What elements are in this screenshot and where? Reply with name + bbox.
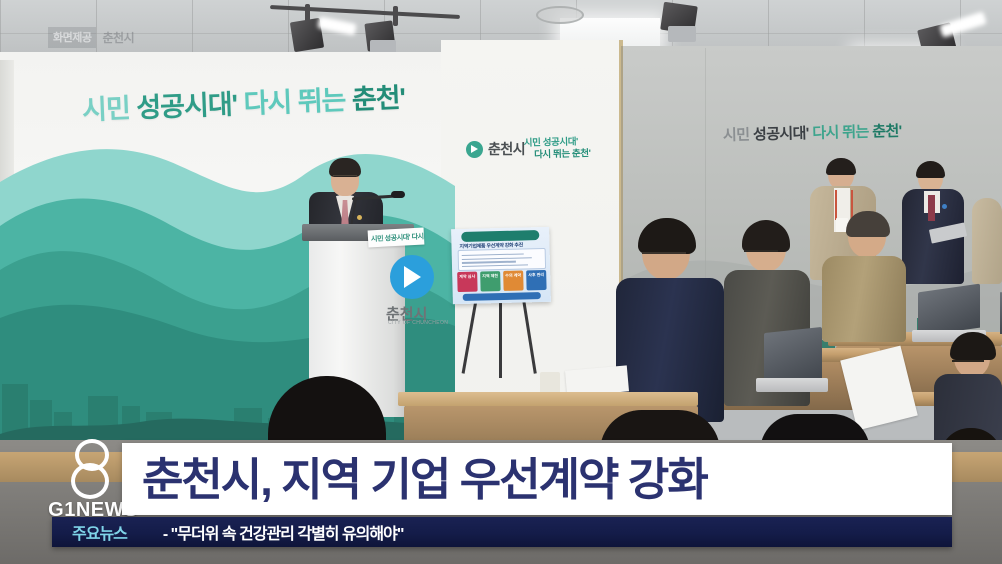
wall-slogan-left-part1: 시민 xyxy=(82,93,131,125)
wall-slogan-right-part1: 시민 xyxy=(723,127,750,145)
poster-footer-band xyxy=(463,292,541,301)
city-logo-name: 춘천시 xyxy=(488,139,525,159)
ceiling-vent-icon xyxy=(536,6,584,24)
front-desk xyxy=(398,392,698,406)
speaker-glasses-icon xyxy=(333,175,357,181)
laptop-screen xyxy=(764,327,822,385)
channel-number-eight-icon xyxy=(68,439,118,499)
presentation-poster: 지역기업제품 우선계약 강화 추진 계약 심사 지역 제한 수의 계약 사후 관… xyxy=(451,227,551,304)
wall-slogan-left-part2: 성공시대' xyxy=(136,89,238,123)
wall-slogan-right-part2: 성공시대' xyxy=(753,125,809,143)
wall-slogan-right: 시민 성공시대' 다시 뛰는 춘천' xyxy=(723,120,902,145)
poster-header-band xyxy=(461,230,539,242)
eight-lower-ring xyxy=(71,463,109,499)
standing-person-right-edge xyxy=(972,198,1002,284)
stage-light-icon xyxy=(668,26,696,42)
person-glasses-icon xyxy=(952,360,984,369)
person-hair xyxy=(916,161,945,178)
city-logo-slogan-line2: 다시 뛰는 춘천' xyxy=(524,148,591,162)
poster-card: 사후 관리 xyxy=(526,270,546,290)
poster-card-label: 수의 계약 xyxy=(503,270,523,277)
headline-banner: 춘천시, 지역 기업 우선계약 강화 xyxy=(122,443,952,515)
speaker-lapel-badge xyxy=(357,215,362,220)
city-logo-mark: 춘천시 xyxy=(466,139,525,159)
poster-card-row: 계약 심사 지역 제한 수의 계약 사후 관리 xyxy=(457,270,546,292)
podium-slogan-strip: 시민 성공시대' 다시 뛰는 춘천' xyxy=(368,228,425,248)
person-glasses-icon xyxy=(744,250,778,259)
poster-card: 수의 계약 xyxy=(503,270,523,290)
seated-reporter xyxy=(822,216,906,342)
watermark-chip-label: 화면제공 xyxy=(48,27,96,48)
news-ticker-bar: 주요뉴스 - "무더위 속 건강관리 각별히 유의해야" xyxy=(52,517,952,547)
person-jacket xyxy=(972,198,1002,284)
person-shirt xyxy=(822,256,906,342)
person-glasses-icon xyxy=(642,252,686,262)
wall-slogan-left-part3: 다시 뛰는 xyxy=(243,85,346,119)
poster-card-label: 계약 심사 xyxy=(457,272,477,279)
city-logo-slogan: 시민 성공시대' 다시 뛰는 춘천' xyxy=(524,136,591,162)
chuncheon-emblem-icon xyxy=(466,141,483,158)
poster-card-label: 사후 관리 xyxy=(526,270,546,277)
poster-card-label: 지역 제한 xyxy=(480,271,500,278)
broadcast-frame: 시민 성공시대' 다시 뛰는 춘천' 시민 성공시대' 다시 뛰는 춘천' 춘천… xyxy=(0,0,1002,564)
laptop-screen xyxy=(918,284,980,337)
podium-emblem-icon xyxy=(390,255,434,299)
wall-slogan-left-part4: 춘천' xyxy=(351,83,405,115)
headline-text: 춘천시, 지역 기업 우선계약 강화 xyxy=(122,457,707,502)
poster-card: 지역 제한 xyxy=(480,271,500,291)
laptop-keyboard xyxy=(756,378,828,392)
podium-slogan-text: 시민 성공시대' 다시 뛰는 춘천' xyxy=(368,228,425,245)
light-track-rail xyxy=(393,6,398,26)
person-hair xyxy=(638,218,696,254)
person-necktie xyxy=(928,195,935,221)
podium-logo-subtitle: CITY OF CHUNCHEON xyxy=(388,320,448,326)
ticker-category-label: 주요뉴스 xyxy=(52,520,127,544)
lapel-badge xyxy=(942,204,947,209)
easel-leg xyxy=(499,300,502,378)
person-hair xyxy=(826,158,856,175)
watermark-source-label: 춘천시 xyxy=(102,29,134,46)
wall-slogan-right-part4: 춘천' xyxy=(872,123,902,141)
poster-card: 계약 심사 xyxy=(457,272,477,292)
microphone-icon xyxy=(391,191,405,198)
source-watermark: 화면제공 춘천시 xyxy=(48,27,134,48)
wall-slogan-right-part3: 다시 뛰는 xyxy=(812,124,869,142)
standing-official xyxy=(902,164,964,284)
poster-text-lines xyxy=(462,253,532,269)
ticker-headline-text: - "무더위 속 건강관리 각별히 유의해야" xyxy=(127,520,404,544)
poster-summary-box xyxy=(458,248,546,271)
city-logo-slogan-line1: 시민 성공시대' xyxy=(524,136,578,148)
